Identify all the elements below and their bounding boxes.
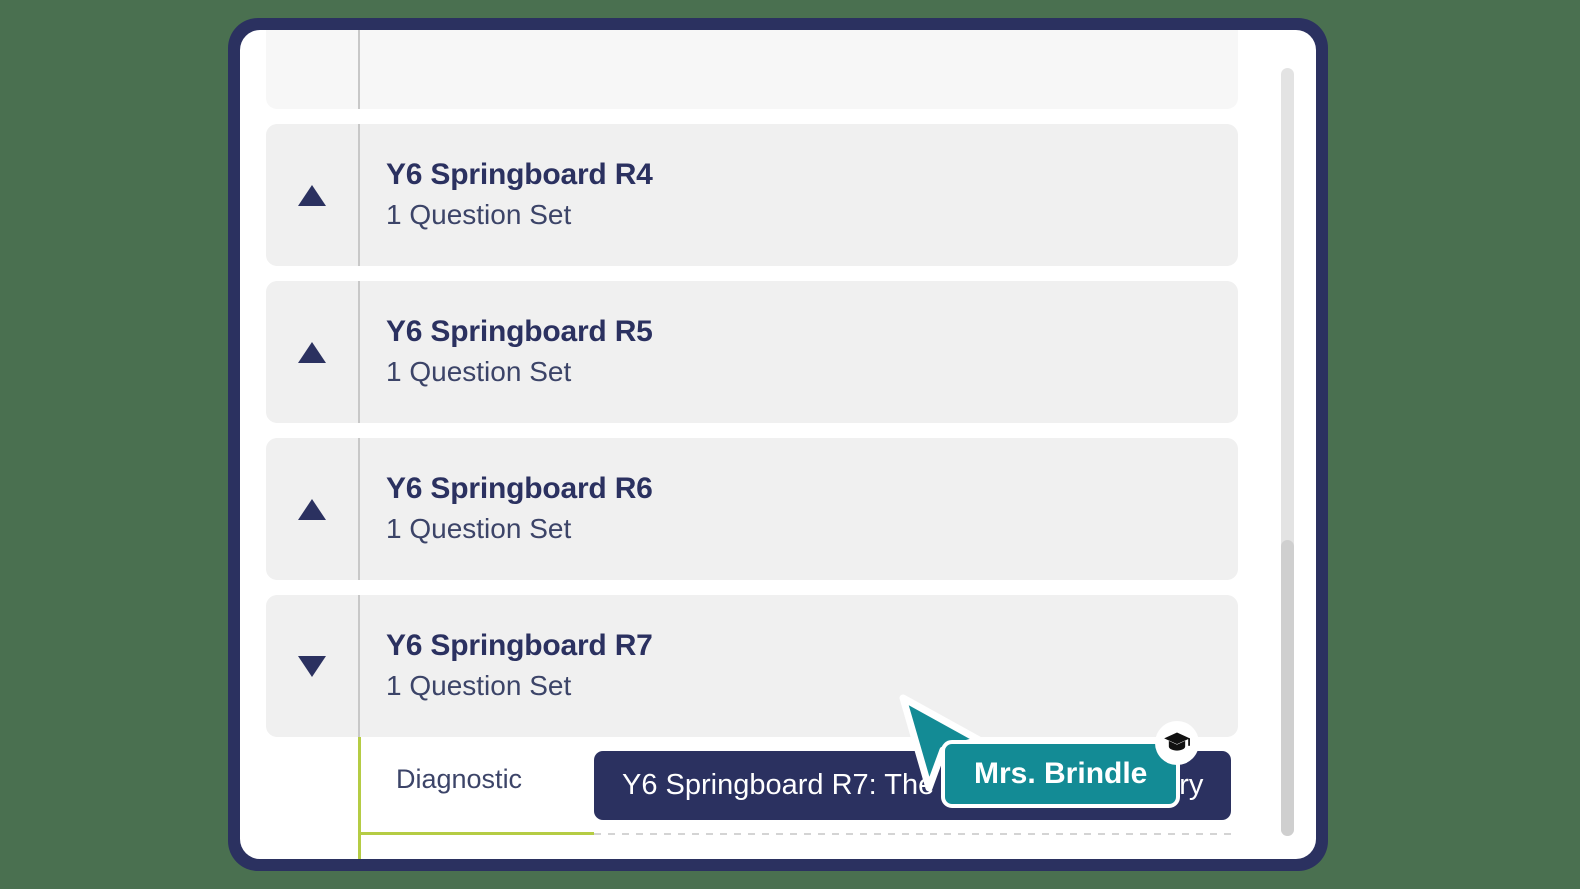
row-text-r7: Y6 Springboard R7 1 Question Set <box>360 595 1238 737</box>
row-subtitle: 1 Question Set <box>386 667 1238 705</box>
row-toggle-r7[interactable] <box>266 595 358 737</box>
row-subtitle: 1 Question Set <box>386 353 1238 391</box>
row-text-r5: Y6 Springboard R5 1 Question Set <box>360 281 1238 423</box>
presence-name-badge: Mrs. Brindle <box>941 740 1180 808</box>
row-subtitle: 1 Question Set <box>386 510 1238 548</box>
question-set-scroll-area[interactable]: Y6 Springboard R4 1 Question Set Y6 Spri… <box>240 30 1316 859</box>
detail-label-whole-class-strategy: Whole-class Strategy <box>358 835 594 859</box>
row-toggle-r5[interactable] <box>266 281 358 423</box>
vertical-scrollbar[interactable] <box>1281 68 1294 836</box>
row-toggle-r4[interactable] <box>266 124 358 266</box>
row-text-r6: Y6 Springboard R6 1 Question Set <box>360 438 1238 580</box>
row-title: Y6 Springboard R5 <box>386 313 1238 351</box>
question-set-list: Y6 Springboard R4 1 Question Set Y6 Spri… <box>266 30 1238 859</box>
row-title: Y6 Springboard R4 <box>386 156 1238 194</box>
row-subtitle: 1 Question Set <box>386 196 1238 234</box>
row-title: Y6 Springboard R6 <box>386 470 1238 508</box>
app-window-panel: Y6 Springboard R4 1 Question Set Y6 Spri… <box>240 30 1316 859</box>
row-text-partial <box>360 30 1238 109</box>
triangle-up-icon <box>298 499 326 520</box>
question-set-row-r4[interactable]: Y6 Springboard R4 1 Question Set <box>266 124 1238 266</box>
question-set-row-r7[interactable]: Y6 Springboard R7 1 Question Set <box>266 595 1238 737</box>
detail-green-rail <box>358 835 361 859</box>
row-title: Y6 Springboard R7 <box>386 627 1238 665</box>
question-set-row-r5[interactable]: Y6 Springboard R5 1 Question Set <box>266 281 1238 423</box>
row-text-r4: Y6 Springboard R4 1 Question Set <box>360 124 1238 266</box>
detail-label-diagnostic: Diagnostic <box>358 737 594 797</box>
detail-green-rail <box>358 737 361 835</box>
detail-row-whole-class-strategy[interactable]: Whole-class Strategy <box>358 835 1238 859</box>
graduation-cap-icon <box>1163 729 1191 757</box>
question-set-row-r6[interactable]: Y6 Springboard R6 1 Question Set <box>266 438 1238 580</box>
triangle-up-icon <box>298 185 326 206</box>
triangle-down-icon <box>298 656 326 677</box>
row-toggle-r6[interactable] <box>266 438 358 580</box>
triangle-up-icon <box>298 342 326 363</box>
question-set-row-partial[interactable] <box>266 30 1238 109</box>
avatar <box>1155 721 1199 765</box>
row-toggle-partial[interactable] <box>266 30 358 109</box>
detail-body-whole-class-strategy <box>594 835 1238 849</box>
scrollbar-thumb[interactable] <box>1281 540 1294 836</box>
